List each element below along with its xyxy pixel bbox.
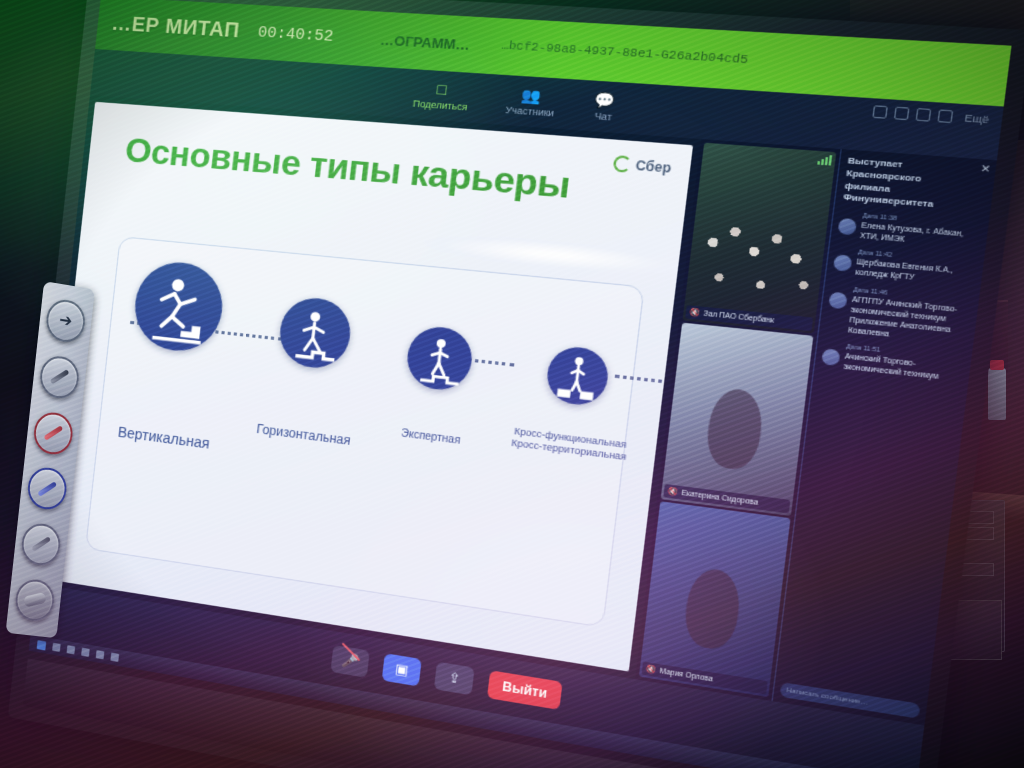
camera-icon: ▣ — [394, 660, 409, 679]
chat-bubble-icon: 💬 — [594, 91, 616, 108]
shared-screen-stage[interactable]: Сбер Основные типы карьеры — [36, 95, 701, 679]
toolbar-right-group: Ещё — [872, 105, 990, 125]
eraser-tool[interactable] — [14, 577, 57, 622]
participants-button[interactable]: 👥 Участники — [505, 86, 557, 119]
person-climbing-stairs-icon — [130, 259, 226, 356]
view-mode-icons[interactable] — [872, 105, 953, 123]
chat-title: Выступает Красноярского филиала Финуниве… — [842, 155, 988, 215]
microphone-muted-icon: 🎤 — [341, 652, 360, 671]
chat-label: Чат — [594, 110, 613, 122]
close-icon[interactable]: ✕ — [980, 163, 992, 177]
slide-title: Основные типы карьеры — [123, 131, 572, 208]
career-node-label: Горизонтальная — [256, 422, 352, 449]
people-icon: 👥 — [521, 86, 543, 102]
career-node-label: Экспертная — [400, 427, 461, 448]
display-screen: …ЕР МИТАП 00:40:52 …ОГРАММ… …bcf2-98a8-4… — [29, 0, 1012, 768]
participant-face — [704, 387, 766, 472]
gear-icon[interactable] — [915, 108, 931, 122]
more-label[interactable]: Ещё — [964, 112, 990, 125]
chat-message: Дата 11:46 АГПГПУ Ачинский Торгово-эконо… — [825, 284, 973, 347]
participant-tile[interactable]: 🔇 Мария Орлова — [639, 501, 791, 697]
stylus-grey[interactable] — [20, 521, 63, 567]
grid-icon[interactable] — [872, 105, 888, 119]
cursor-arrow-icon: ➔ — [58, 310, 73, 332]
pointer-tool[interactable]: ➔ — [44, 297, 87, 345]
pen-icon — [31, 537, 51, 553]
meeting-id: …bcf2-98a8-4937-88e1-G26a2b04cd5 — [501, 40, 749, 68]
sber-logo: Сбер — [613, 155, 672, 176]
microphone-muted-icon: 🔇 — [645, 664, 656, 674]
sber-logo-text: Сбер — [635, 157, 672, 175]
participant-face — [682, 566, 744, 651]
person-between-platforms-icon — [544, 344, 611, 407]
share-screen-label: Поделиться — [412, 98, 468, 112]
network-icon[interactable] — [110, 653, 119, 662]
pen-icon — [50, 370, 70, 385]
pen-icon — [37, 481, 57, 496]
bottle — [988, 368, 1006, 420]
share-button[interactable]: ⇪ — [434, 662, 475, 696]
person-standing-step-icon — [405, 324, 476, 393]
camera-toggle-button[interactable]: ▣ — [382, 653, 422, 686]
room-scene: …ЕР МИТАП 00:40:52 …ОГРАММ… …bcf2-98a8-4… — [0, 0, 1024, 768]
bottle-cap — [990, 360, 1004, 370]
browser-icon[interactable] — [67, 645, 76, 654]
avatar — [833, 255, 853, 272]
participant-tile[interactable]: 🔇 Екатерина Сидорова — [661, 323, 814, 516]
microphone-toggle-button[interactable]: 🎤 — [331, 645, 370, 678]
career-node-expert[interactable]: Экспертная — [398, 324, 475, 449]
expand-icon[interactable] — [937, 109, 953, 123]
avatar — [837, 218, 857, 235]
stylus-red[interactable] — [32, 410, 75, 457]
pen-icon — [44, 425, 64, 440]
participant-tile[interactable]: 🔇 Зал ПАО Сбербанк — [682, 143, 836, 334]
leave-meeting-button[interactable]: Выйти — [487, 670, 562, 710]
avatar — [821, 348, 840, 366]
interactive-display: …ЕР МИТАП 00:40:52 …ОГРАММ… …bcf2-98a8-4… — [8, 0, 1024, 768]
share-screen-icon: ⇪ — [447, 669, 461, 688]
chat-message: Дата 11:51 Ачинский Торгово-экономически… — [820, 341, 965, 384]
program-label: …ОГРАММ… — [379, 31, 471, 52]
stylus-blue[interactable] — [26, 466, 69, 512]
microphone-muted-icon: 🔇 — [667, 487, 678, 497]
meeting-app: …ЕР МИТАП 00:40:52 …ОГРАММ… …bcf2-98a8-4… — [29, 0, 1012, 768]
career-node-vertical[interactable]: Вертикальная — [117, 258, 230, 453]
meeting-title: …ЕР МИТАП — [110, 12, 240, 43]
signal-bars-icon — [817, 154, 832, 165]
eraser-icon — [23, 592, 46, 607]
participants-label: Участники — [505, 104, 555, 118]
career-node-horizontal[interactable]: Горизонтальная — [256, 294, 367, 449]
start-icon[interactable] — [37, 640, 47, 650]
room-crowd-video — [682, 143, 836, 334]
ellipsis-icon[interactable] — [893, 107, 909, 121]
person-walking-platform-icon — [276, 295, 353, 371]
share-screen-button[interactable]: □ Поделиться — [412, 79, 470, 112]
volume-icon[interactable] — [96, 650, 105, 659]
avatar — [828, 291, 847, 309]
participant-name: Екатерина Сидорова — [681, 489, 758, 507]
presentation-slide: Сбер Основные типы карьеры — [42, 102, 693, 672]
stylus-black[interactable] — [38, 354, 81, 401]
participant-name: Мария Орлова — [659, 667, 713, 683]
mail-icon[interactable] — [81, 648, 90, 657]
career-node-cross-functional[interactable]: Кросс-функциональная Кросс-территориальн… — [511, 341, 639, 463]
sber-ring-icon — [613, 155, 632, 173]
chat-button[interactable]: 💬 Чат — [593, 91, 617, 122]
folder-icon[interactable] — [52, 643, 61, 652]
career-node-label: Кросс-функциональная Кросс-территориальн… — [511, 425, 629, 464]
meeting-timer: 00:40:52 — [257, 23, 334, 45]
screen-share-icon: □ — [436, 81, 447, 97]
chat-message: Дата 11:42 Щербакова Евгения К.А., колле… — [832, 248, 977, 290]
chat-header: Выступает Красноярского филиала Финуниве… — [834, 149, 996, 221]
microphone-muted-icon: 🔇 — [689, 308, 701, 318]
